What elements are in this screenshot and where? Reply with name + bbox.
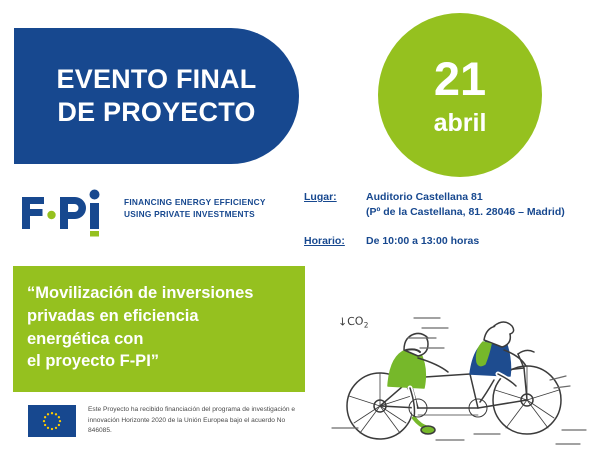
schedule-value: De 10:00 a 13:00 horas	[366, 234, 479, 249]
event-quote-box: “Movilización de inversiones privadas en…	[13, 266, 305, 392]
event-date-day: 21	[434, 55, 486, 102]
event-date-month: abril	[434, 111, 487, 136]
event-date-badge: 21 abril	[378, 13, 542, 177]
event-title-banner: EVENTO FINAL DE PROYECTO	[14, 28, 299, 164]
schedule-label: Horario:	[304, 234, 366, 249]
quote-line-4: el proyecto F-PI”	[27, 350, 291, 373]
eu-funding-footer: Este Proyecto ha recibido financiación d…	[28, 405, 303, 437]
venue-name: Auditorio Castellana 81	[366, 190, 565, 205]
tandem-bicycle-illustration: ↓CO2	[318, 288, 600, 453]
eu-flag-icon	[28, 405, 76, 437]
event-title-line-1: EVENTO FINAL	[57, 63, 257, 96]
fpi-tagline-line-1: FINANCING ENERGY EFFICIENCY	[124, 196, 266, 208]
co2-label-text: ↓CO	[338, 314, 364, 328]
tandem-bicycle-icon	[318, 288, 600, 453]
venue-address: (Pº de la Castellana, 81. 28046 – Madrid…	[366, 205, 565, 220]
eu-funding-text: Este Proyecto ha recibido financiación d…	[88, 405, 303, 437]
fpi-logo-icon	[20, 189, 112, 237]
event-title-line-2: DE PROYECTO	[57, 96, 255, 129]
venue-label: Lugar:	[304, 190, 366, 205]
venue-value: Auditorio Castellana 81 (Pº de la Castel…	[366, 190, 565, 220]
event-flyer: EVENTO FINAL DE PROYECTO 21 abril FINANC…	[0, 0, 600, 453]
event-details: Lugar: Auditorio Castellana 81 (Pº de la…	[304, 190, 596, 264]
co2-subscript: 2	[363, 320, 368, 329]
fpi-logo-tagline: FINANCING ENERGY EFFICIENCY USING PRIVAT…	[124, 196, 266, 221]
schedule-row: Horario: De 10:00 a 13:00 horas	[304, 234, 596, 249]
fpi-tagline-line-2: USING PRIVATE INVESTMENTS	[124, 208, 266, 220]
venue-row: Lugar: Auditorio Castellana 81 (Pº de la…	[304, 190, 596, 220]
co2-reduction-label: ↓CO2	[338, 314, 369, 331]
quote-line-1: “Movilización de inversiones	[27, 282, 291, 305]
fpi-logo: FINANCING ENERGY EFFICIENCY USING PRIVAT…	[20, 185, 285, 237]
quote-line-3: energética con	[27, 328, 291, 351]
quote-line-2: privadas en eficiencia	[27, 305, 291, 328]
eu-stars-icon	[28, 405, 76, 437]
event-quote-text: “Movilización de inversiones privadas en…	[27, 282, 291, 373]
